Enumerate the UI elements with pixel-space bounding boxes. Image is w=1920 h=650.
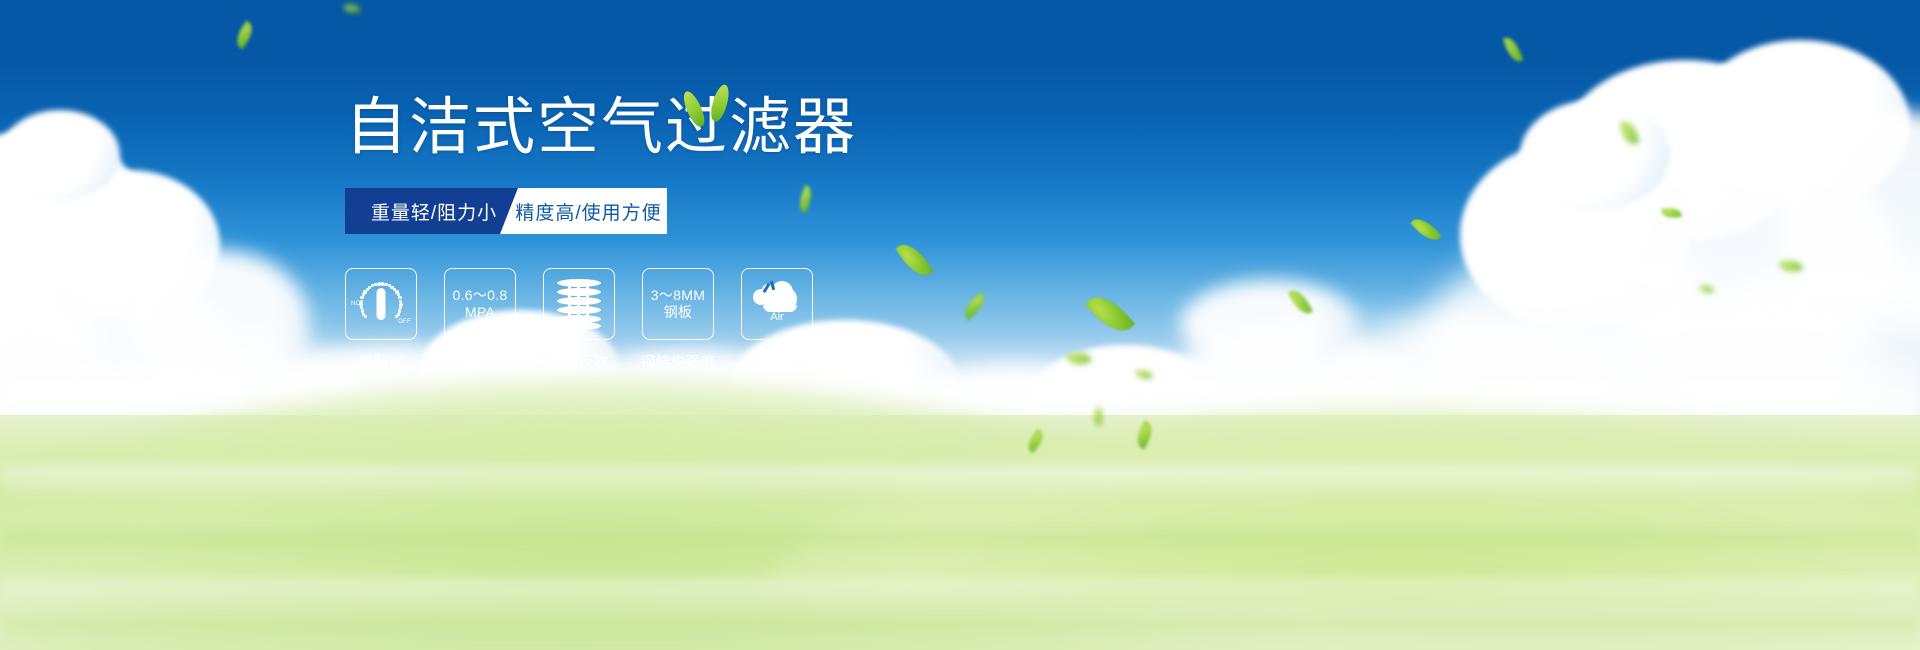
product-hero-banner: 自洁式空气过滤器 重量轻/阻力小 精度高/使用方便 NO O — [0, 0, 1920, 650]
subtitle-right-panel: 精度高/使用方便 — [500, 188, 667, 234]
feature-item-backwash[interactable]: 强力反吹 — [543, 268, 615, 372]
feature-box: 0.6～0.8 MPA — [444, 268, 516, 340]
feature-label: 强力反吹 — [549, 351, 609, 372]
feature-label: 控制仪 — [359, 351, 404, 372]
dial-label-off: OFF — [398, 319, 411, 326]
feature-item-steel-plate[interactable]: 3～8MM 钢板 钢结构强度 — [642, 268, 714, 372]
subtitle-left-text: 重量轻/阻力小 — [371, 198, 497, 225]
subtitle-right-text: 精度高/使用方便 — [505, 198, 661, 225]
grass-shade-band — [0, 618, 1920, 644]
feature-label: 钢结构强度 — [641, 351, 716, 372]
feature-item-dust-collection[interactable]: Air 集尘 — [741, 268, 813, 372]
feature-box: 3～8MM 钢板 — [642, 268, 714, 340]
grass-light-band — [0, 466, 1920, 500]
grass-field — [0, 415, 1920, 650]
title-leaves-icon — [685, 82, 745, 128]
subtitle-split-bar: 重量轻/阻力小 精度高/使用方便 — [345, 188, 667, 234]
feature-icon-row: NO OFF 控制仪 0.6～0.8 MPA 二级过滤 — [345, 268, 1065, 372]
feature-item-control-dial[interactable]: NO OFF 控制仪 — [345, 268, 417, 372]
grass-shade-band — [0, 532, 1920, 554]
dust-air-label: Air — [751, 311, 803, 324]
subtitle-left-panel: 重量轻/阻力小 — [345, 188, 523, 234]
grass-light-band — [0, 578, 1920, 608]
dust-cloud-icon: Air — [751, 281, 803, 327]
feature-label: 集尘 — [762, 351, 792, 372]
feature-item-pressure[interactable]: 0.6～0.8 MPA 二级过滤 — [444, 268, 516, 372]
pressure-text-icon: 0.6～0.8 MPA — [452, 287, 507, 321]
feature-label: 二级过滤 — [450, 351, 510, 372]
hero-content: 自洁式空气过滤器 重量轻/阻力小 精度高/使用方便 NO O — [345, 96, 1065, 372]
control-dial-icon: NO OFF — [354, 277, 408, 331]
backwash-coil-icon — [557, 279, 601, 329]
feature-box: NO OFF — [345, 268, 417, 340]
feature-box: Air — [741, 268, 813, 340]
steel-plate-text-icon: 3～8MM 钢板 — [651, 287, 705, 321]
feature-box — [543, 268, 615, 340]
